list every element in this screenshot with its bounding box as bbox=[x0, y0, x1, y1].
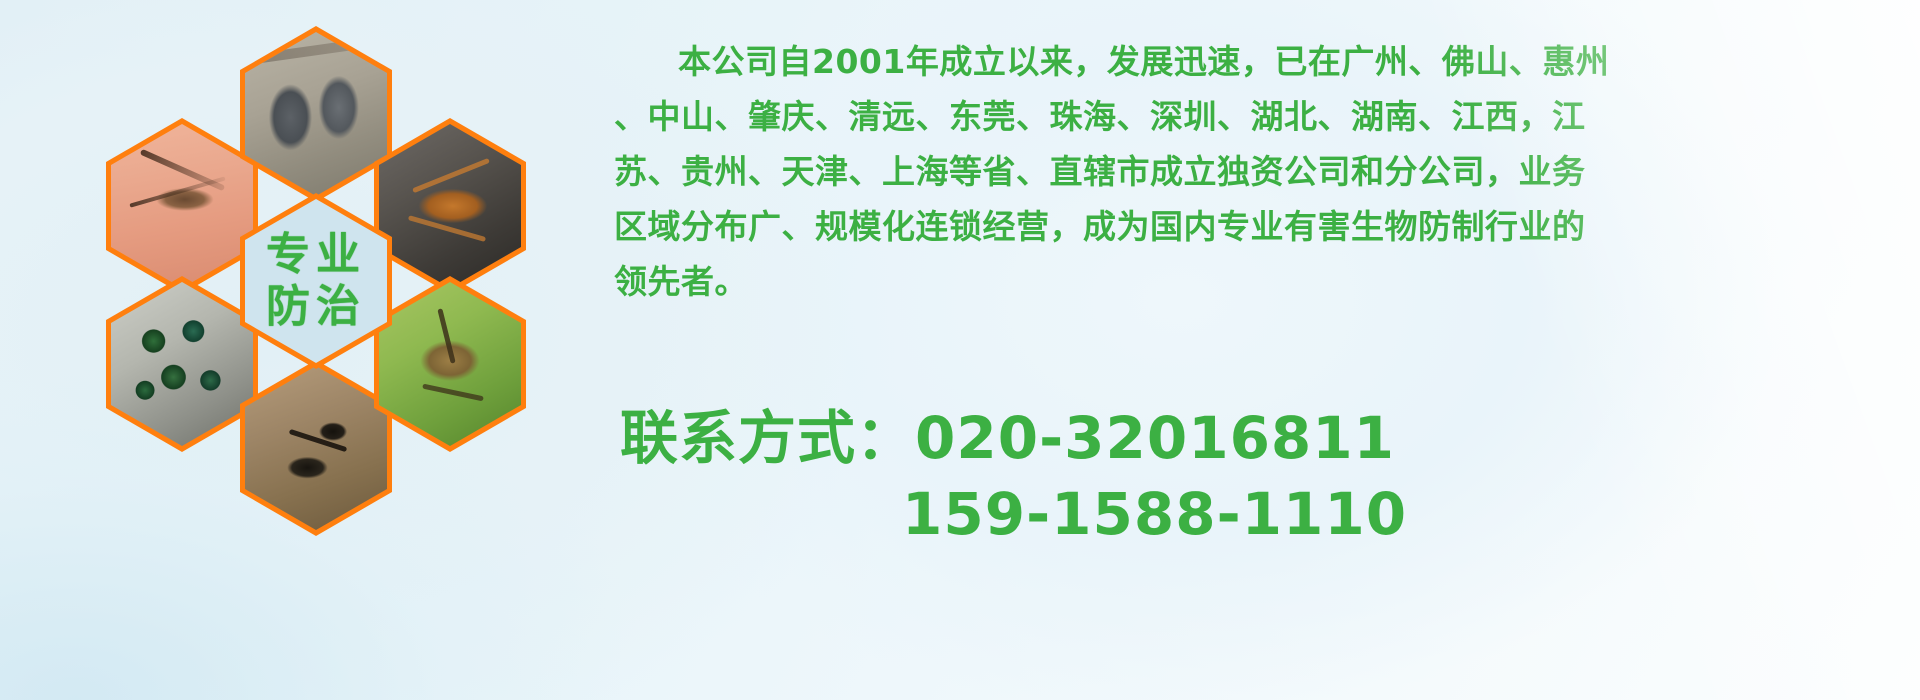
hex-tile-mosquito bbox=[106, 118, 258, 294]
contact-primary[interactable]: 联系方式：020-32016811 bbox=[620, 400, 1920, 476]
flies-photo bbox=[111, 282, 253, 446]
hex-tile-flies-inner bbox=[111, 282, 253, 446]
banner-root: 专业 防治 本公司自2001年成立以来，发展迅速，已在广州、佛山、惠州 、中山、… bbox=[0, 0, 1920, 700]
hex-tile-ants bbox=[240, 360, 392, 536]
contact-secondary[interactable]: 159-1588-1110 bbox=[620, 476, 1920, 552]
hex-tile-cockroach bbox=[374, 118, 526, 294]
hex-tile-center-slogan: 专业 防治 bbox=[240, 193, 392, 369]
intro-line-2: 、中山、肇庆、清远、东莞、珠海、深圳、湖北、湖南、江西，江 bbox=[614, 89, 1914, 144]
intro-line-1: 本公司自2001年成立以来，发展迅速，已在广州、佛山、惠州 bbox=[614, 34, 1914, 89]
hex-tile-stink-bug-inner bbox=[379, 282, 521, 446]
stink-bug-photo bbox=[379, 282, 521, 446]
rats-photo bbox=[245, 32, 387, 196]
intro-paragraph: 本公司自2001年成立以来，发展迅速，已在广州、佛山、惠州 、中山、肇庆、清远、… bbox=[614, 34, 1914, 309]
hex-tile-ants-inner bbox=[245, 366, 387, 530]
slogan-line-1: 专业 bbox=[266, 229, 366, 281]
cockroach-photo bbox=[379, 124, 521, 288]
hex-tile-stink-bug bbox=[374, 276, 526, 452]
hex-tile-mosquito-inner bbox=[111, 124, 253, 288]
intro-line-4: 区域分布广、规模化连锁经营，成为国内专业有害生物防制行业的 bbox=[614, 199, 1914, 254]
mosquito-photo bbox=[111, 124, 253, 288]
hex-tile-rats-inner bbox=[245, 32, 387, 196]
hex-tile-center-inner: 专业 防治 bbox=[245, 199, 387, 363]
hex-tile-cockroach-inner bbox=[379, 124, 521, 288]
hex-tile-flies bbox=[106, 276, 258, 452]
intro-line-5: 领先者。 bbox=[614, 254, 1914, 309]
slogan-text: 专业 防治 bbox=[266, 229, 366, 333]
slogan-line-2: 防治 bbox=[266, 281, 366, 333]
ants-photo bbox=[245, 366, 387, 530]
hexagon-logo-cluster: 专业 防治 bbox=[88, 8, 588, 568]
intro-line-3: 苏、贵州、天津、上海等省、直辖市成立独资公司和分公司，业务 bbox=[614, 144, 1914, 199]
contact-block: 联系方式：020-32016811 159-1588-1110 bbox=[620, 400, 1920, 552]
hex-tile-rats bbox=[240, 26, 392, 202]
